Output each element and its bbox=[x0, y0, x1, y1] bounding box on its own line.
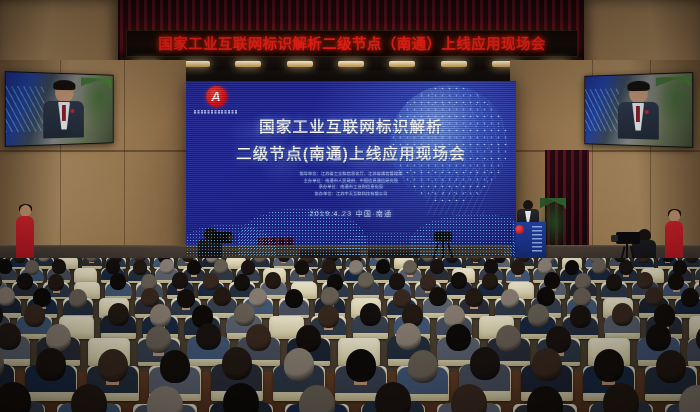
audience-member-head bbox=[98, 349, 128, 381]
stage-light bbox=[287, 61, 313, 67]
audience-member-head bbox=[646, 324, 671, 351]
stage-podium bbox=[512, 222, 546, 258]
stage-light bbox=[235, 61, 261, 67]
video-camera-icon bbox=[616, 232, 640, 244]
conference-hall-photo: 国家工业互联网标识解析二级节点（南通）上线应用现场会 国家工业互联网标识解析 二… bbox=[0, 0, 700, 412]
wall-joint bbox=[124, 60, 125, 265]
audience-member-head bbox=[376, 259, 390, 274]
feed-speaker bbox=[617, 81, 660, 145]
audience-member-head bbox=[346, 349, 376, 381]
camera-lens-icon bbox=[611, 235, 618, 242]
feed-speaker bbox=[42, 80, 85, 144]
podium-logo-icon bbox=[515, 225, 524, 234]
speaker-tie bbox=[636, 106, 639, 122]
wall-seam-left bbox=[0, 150, 186, 152]
audience-member-head bbox=[213, 287, 231, 306]
audience-member-head bbox=[403, 260, 417, 275]
audience-member-head bbox=[222, 347, 252, 379]
feed-plant bbox=[81, 77, 111, 128]
audience-member-head bbox=[429, 287, 447, 306]
audience-member-head bbox=[532, 348, 562, 380]
audience-member-head bbox=[465, 288, 483, 307]
led-banner: 国家工业互联网标识解析二级节点（南通）上线应用现场会 bbox=[126, 30, 578, 57]
wall-seam-right bbox=[510, 150, 700, 152]
audience-member-head bbox=[284, 348, 314, 380]
audience-member-head bbox=[446, 258, 458, 263]
audience-member-head bbox=[396, 323, 421, 350]
audience-member-head bbox=[528, 304, 549, 327]
logo-badge-icon bbox=[206, 86, 227, 107]
organizer-line: 指导单位：江苏省工业和信息化厅、江苏省通信管理局 bbox=[186, 171, 516, 178]
audience-member-head bbox=[619, 260, 633, 275]
audience-member-head bbox=[254, 258, 266, 263]
live-feed-right bbox=[585, 73, 692, 147]
side-monitor-right bbox=[584, 72, 693, 148]
audience-member-head bbox=[0, 323, 21, 350]
audience-member-head bbox=[570, 305, 591, 328]
audience-member-head bbox=[196, 323, 221, 350]
side-monitor-left bbox=[5, 71, 114, 147]
audience-member-head bbox=[234, 303, 255, 326]
feed-background-beam bbox=[585, 88, 619, 132]
audience-member-head bbox=[14, 258, 26, 263]
audience-member-head bbox=[656, 350, 686, 382]
podium-graphic bbox=[532, 226, 542, 252]
audience-member-head bbox=[295, 260, 309, 275]
audience-member-head bbox=[501, 289, 519, 308]
main-led-screen: 国家工业互联网标识解析 二级节点(南通)上线应用现场会 指导单位：江苏省工业和信… bbox=[186, 81, 516, 256]
feed-plant bbox=[656, 76, 690, 130]
audience-member-head bbox=[52, 259, 66, 274]
organizer-line: 协办单位：江苏中天互联科技有限公司 bbox=[186, 191, 516, 198]
audience-member-head bbox=[214, 259, 228, 274]
audience-member-head bbox=[246, 324, 271, 351]
seat bbox=[74, 268, 97, 283]
wave-shape bbox=[410, 214, 516, 256]
stage-light bbox=[441, 61, 467, 67]
organizer-list: 指导单位：江苏省工业和信息化厅、江苏省通信管理局 主办单位：南通市人民政府、中国… bbox=[186, 171, 516, 197]
feed-background-beam bbox=[6, 85, 45, 132]
audience-member-head bbox=[408, 350, 438, 382]
audience-member-head bbox=[360, 303, 381, 326]
audience-member-head bbox=[146, 326, 171, 353]
speaker-lapel-pin bbox=[71, 109, 75, 113]
audience-member-head bbox=[150, 304, 171, 327]
organizer-line: 承办单位：南通市工业和信息化局 bbox=[186, 184, 516, 191]
audience-member-head bbox=[318, 305, 339, 328]
audience-member-head bbox=[592, 259, 606, 274]
audience-member-head bbox=[565, 260, 579, 275]
audience-member-head bbox=[0, 259, 12, 274]
audience-member-head bbox=[133, 260, 147, 275]
audience-member-head bbox=[108, 303, 129, 326]
audience-member-head bbox=[285, 289, 303, 308]
stage-light bbox=[389, 61, 415, 67]
audience-area: 15171922182022 bbox=[0, 258, 700, 412]
audience-member-head bbox=[0, 287, 15, 306]
audience-member-head bbox=[322, 259, 336, 274]
audience-member-head bbox=[612, 303, 633, 326]
audience-member-head bbox=[638, 258, 650, 263]
audience-member-head bbox=[36, 348, 66, 380]
audience-member-head bbox=[249, 288, 267, 307]
audience-member-head bbox=[645, 287, 663, 306]
screen-title-line2: 二级节点(南通)上线应用现场会 bbox=[186, 142, 516, 164]
audience-member-head bbox=[46, 324, 71, 351]
stage-light bbox=[338, 61, 364, 67]
audience-member-head bbox=[681, 288, 699, 307]
speaker-hair bbox=[627, 80, 649, 91]
speaker-tie bbox=[62, 105, 65, 121]
audience-member-head bbox=[496, 325, 521, 352]
audience-member-head bbox=[160, 259, 174, 274]
audience-member-head bbox=[430, 259, 444, 274]
logo-wordmark bbox=[194, 110, 238, 114]
screen-date-location: 2019.4.23 中国·南通 bbox=[186, 209, 516, 219]
audience-member-head bbox=[160, 350, 190, 382]
audience-member-head bbox=[470, 347, 500, 379]
audience-member-head bbox=[686, 258, 698, 263]
audience-member-head bbox=[24, 304, 45, 327]
screen-title-line1: 国家工业互联网标识解析 bbox=[186, 115, 516, 137]
stage-light bbox=[184, 61, 210, 67]
audience-member-head bbox=[187, 260, 201, 275]
audience-member-head bbox=[69, 289, 87, 308]
screen-title-block: 国家工业互联网标识解析 二级节点(南通)上线应用现场会 bbox=[186, 115, 516, 164]
audience-member-head bbox=[594, 349, 624, 381]
speaker-hair bbox=[53, 79, 75, 90]
speaker-lapel-pin bbox=[645, 110, 649, 114]
audience-member-head bbox=[321, 287, 339, 306]
audience-member-head bbox=[511, 260, 525, 275]
live-feed-left bbox=[6, 72, 113, 146]
audience-member-head bbox=[177, 289, 195, 308]
audience-member-head bbox=[446, 324, 471, 351]
led-banner-text: 国家工业互联网标识解析二级节点（南通）上线应用现场会 bbox=[158, 33, 545, 54]
